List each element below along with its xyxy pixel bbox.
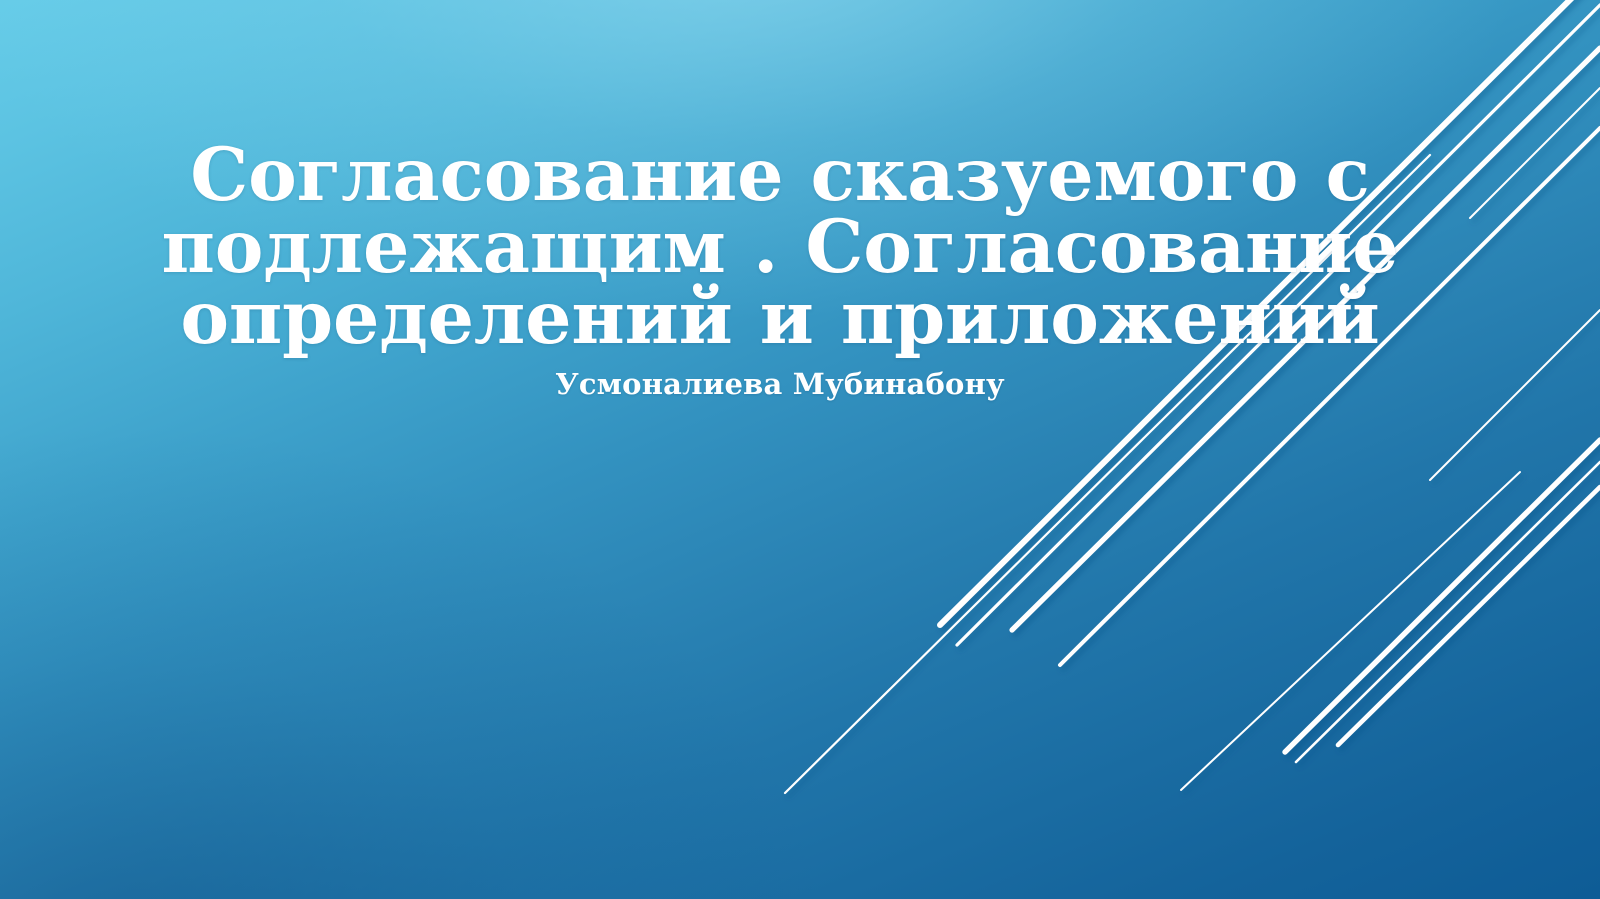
slide-subtitle: Усмоналиева Мубинабону	[155, 369, 1405, 401]
title-block: Согласование сказуемого с подлежащим . С…	[155, 140, 1405, 400]
presentation-slide: Согласование сказуемого с подлежащим . С…	[0, 0, 1600, 899]
page-title: Согласование сказуемого с подлежащим . С…	[155, 140, 1405, 355]
slide-content: Согласование сказуемого с подлежащим . С…	[0, 0, 1600, 899]
